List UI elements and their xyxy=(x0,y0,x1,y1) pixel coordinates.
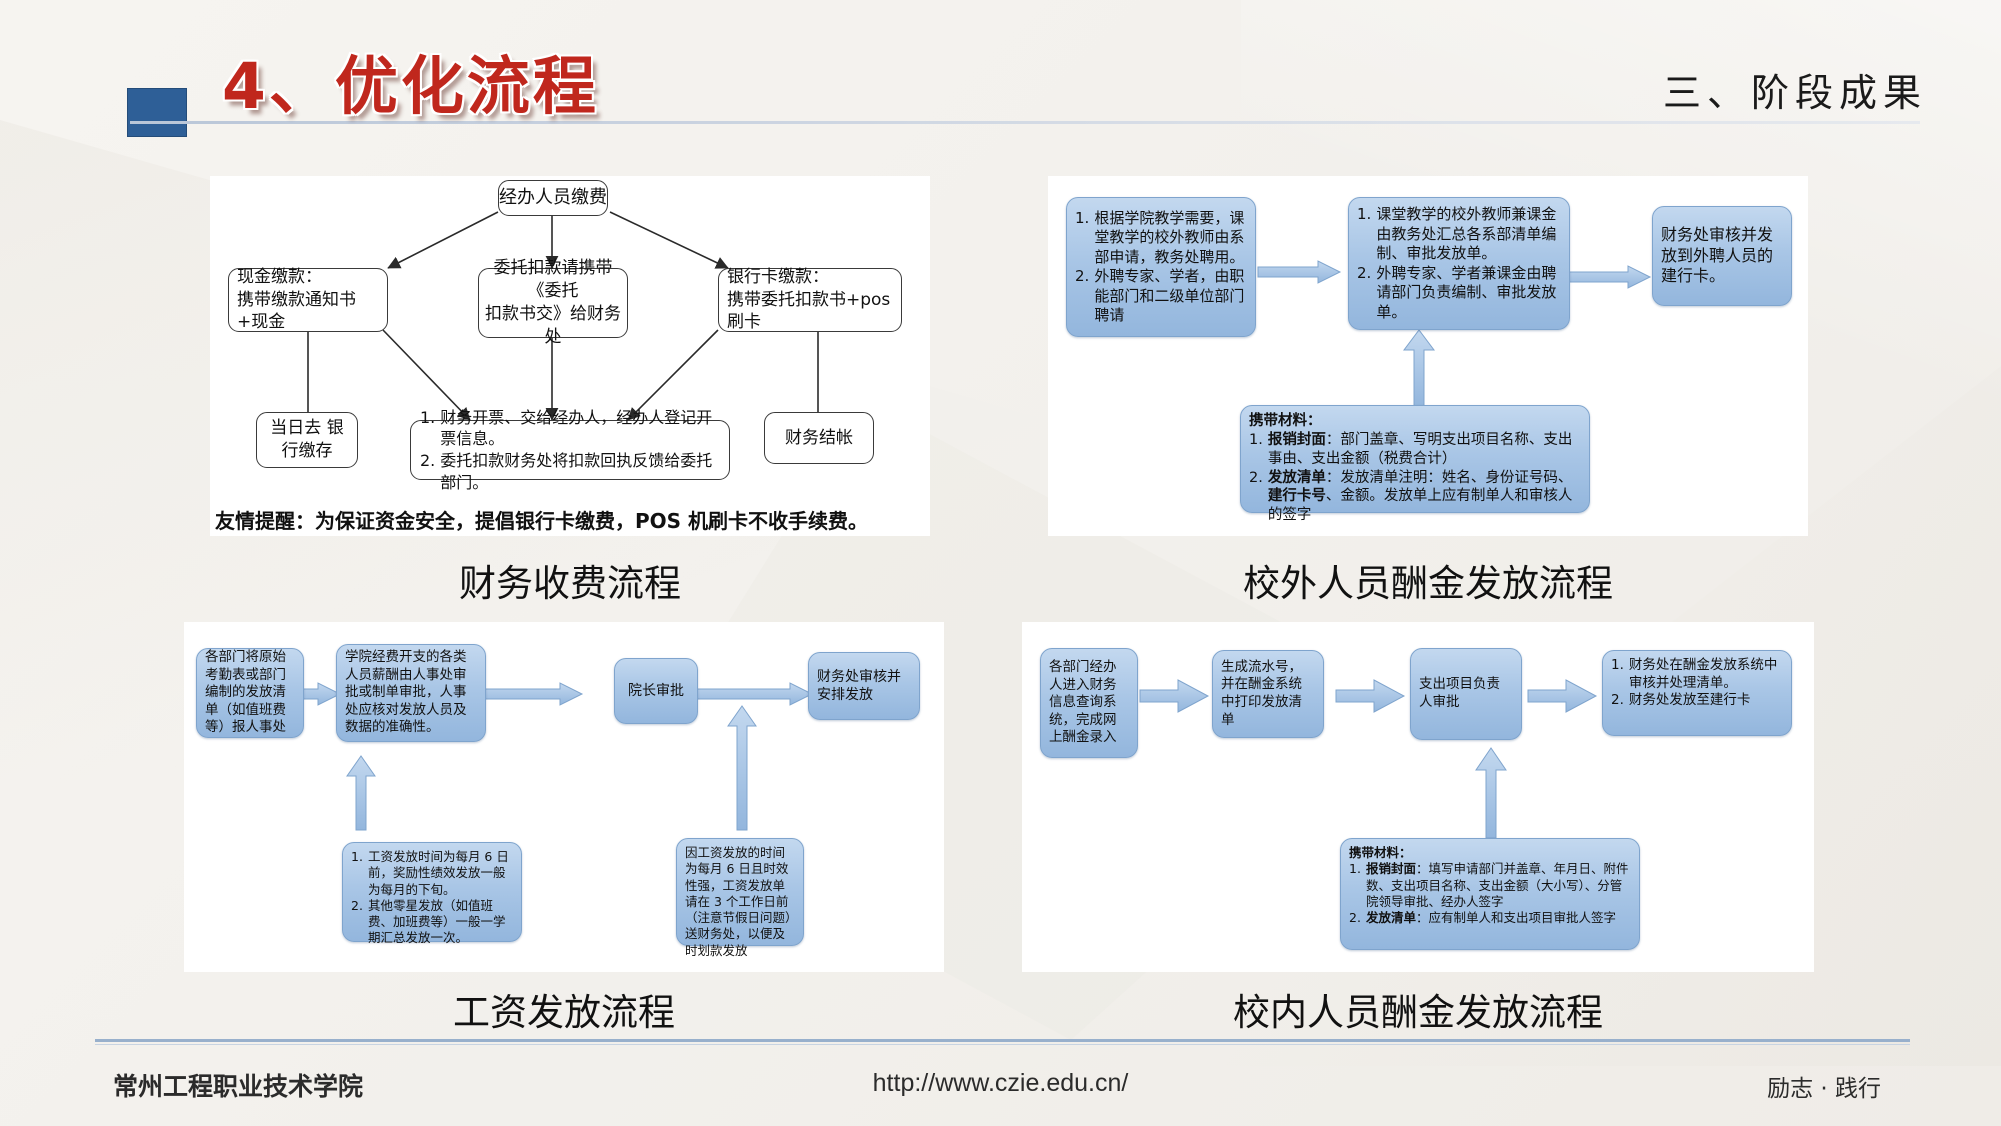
chart4-materials-label-2: 发放清单 xyxy=(1366,910,1416,925)
chart1-node-top: 经办人员缴费 xyxy=(498,180,608,216)
chart2-node-materials: 携带材料： 1.报销封面：部门盖章、写明支出项目名称、支出事由、支出金额（税费合… xyxy=(1240,405,1590,513)
chart1-node-bankcard: 银行卡缴款： 携带委托扣款书+pos 刷卡 xyxy=(718,268,902,332)
chart1-node-settle: 财务结帐 xyxy=(764,412,874,464)
chart1-result-item-2: 委托扣款财务处将扣款回执反馈给委托部门。 xyxy=(440,450,720,493)
slide-footer: 常州工程职业技术学院 http://www.czie.edu.cn/ 励志 · … xyxy=(0,1031,2001,1126)
caption-chart2: 校外人员酬金发放流程 xyxy=(1048,553,1808,607)
chart4-node-step2: 生成流水号，并在酬金系统中打印发放清单 xyxy=(1212,650,1324,738)
slide-header: 4、优化流程 三、阶段成果 xyxy=(0,0,2001,140)
chart4-materials-item-2: ：应有制单人和支出项目审批人签字 xyxy=(1416,910,1616,925)
footer-school-name: 常州工程职业技术学院 xyxy=(113,1067,363,1103)
chart4-node-step4: 1.财务处在酬金发放系统中审核并处理清单。 2.财务处发放至建行卡 xyxy=(1602,650,1792,736)
chart2-node-step3: 财务处审核并发放到外聘人员的建行卡。 xyxy=(1652,206,1792,306)
caption-chart4: 校内人员酬金发放流程 xyxy=(1022,982,1814,1036)
caption-chart1: 财务收费流程 xyxy=(210,553,930,607)
chart3-note1-item-1: 工资发放时间为每月 6 日前，奖励性绩效发放一般为每月的下旬。 xyxy=(368,849,513,898)
chart1-reminder: 友情提醒：为保证资金安全，提倡银行卡缴费，POS 机刷卡不收手续费。 xyxy=(215,505,868,534)
chart2-step2-item-1: 课堂教学的校外教师兼课金由教务处汇总各系部清单编制、审批发放单。 xyxy=(1376,205,1561,264)
chart3-node-note1: 1.工资发放时间为每月 6 日前，奖励性绩效发放一般为每月的下旬。 2.其他零星… xyxy=(342,842,522,942)
chart4-node-materials: 携带材料： 1.报销封面：填写申请部门并盖章、年月日、附件数、支出项目名称、支出… xyxy=(1340,838,1640,950)
chart1-node-deposit: 当日去 银 行缴存 xyxy=(256,412,358,468)
chart3-note1-item-2: 其他零星发放（如值班费、加班费等）一般一学期汇总发放一次。 xyxy=(368,898,513,947)
chart3-node-step1: 各部门将原始考勤表或部门编制的发放清单（如值班费等）报人事处 xyxy=(196,648,304,738)
header-accent-square xyxy=(127,88,187,137)
footer-divider-thin xyxy=(95,1044,1910,1045)
chart4-step1-text: 各部门经办人进入财务信息查询系统，完成网上酬金录入 xyxy=(1049,659,1129,747)
chart2-node-step2: 1.课堂教学的校外教师兼课金由教务处汇总各系部清单编制、审批发放单。 2.外聘专… xyxy=(1348,197,1570,330)
chart3-node-note2: 因工资发放的时间为每月 6 日且时效性强，工资发放单请在 3 个工作日前（注意节… xyxy=(676,838,804,946)
chart3-node-step3: 院长审批 xyxy=(614,658,698,724)
chart2-step1-item-2: 外聘专家、学者，由职能部门和二级单位部门聘请 xyxy=(1094,267,1247,326)
chart1-node-cash: 现金缴款： 携带缴款通知书+现金 xyxy=(228,268,388,332)
section-title: 三、阶段成果 xyxy=(1663,62,1927,117)
caption-chart3: 工资发放流程 xyxy=(184,982,944,1036)
page-title: 4、优化流程 xyxy=(222,36,599,127)
chart4-node-step3: 支出项目负责人审批 xyxy=(1410,648,1522,740)
chart2-materials-label-1: 报销封面 xyxy=(1268,432,1326,448)
chart2-materials-title: 携带材料： xyxy=(1249,412,1581,431)
chart2-node-step1: 1.根据学院教学需要，课堂教学的校外教师由系部申请，教务处聘用。 2.外聘专家、… xyxy=(1066,197,1256,337)
chart4-materials-title: 携带材料： xyxy=(1349,845,1631,861)
chart4-node-step1: 各部门经办人进入财务信息查询系统，完成网上酬金录入 xyxy=(1040,648,1138,758)
chart4-materials-label-1: 报销封面 xyxy=(1366,861,1416,876)
chart1-result-item-1: 财务开票、交给经办人，经办人登记开票信息。 xyxy=(440,407,720,450)
chart3-node-step4: 财务处审核并安排发放 xyxy=(808,652,920,720)
footer-divider xyxy=(95,1039,1910,1042)
chart4-step4-item-2: 财务处发放至建行卡 xyxy=(1629,692,1751,710)
chart1-node-result: 1.财务开票、交给经办人，经办人登记开票信息。 2.委托扣款财务处将扣款回执反馈… xyxy=(410,420,730,480)
chart1-node-entrust: 委托扣款请携带《委托 扣款书交》给财务处 xyxy=(478,268,628,338)
chart2-step2-item-2: 外聘专家、学者兼课金由聘请部门负责编制、审批发放单。 xyxy=(1376,264,1561,323)
chart2-step1-item-1: 根据学院教学需要，课堂教学的校外教师由系部申请，教务处聘用。 xyxy=(1094,209,1247,268)
chart4-step4-item-1: 财务处在酬金发放系统中审核并处理清单。 xyxy=(1629,657,1783,692)
chart3-node-step2: 学院经费开支的各类人员薪酬由人事处审批或制单审批，人事处应核对发放人员及数据的准… xyxy=(336,644,486,742)
footer-url[interactable]: http://www.czie.edu.cn/ xyxy=(873,1069,1129,1098)
footer-motto: 励志 · 践行 xyxy=(1767,1069,1881,1103)
chart2-materials-label-2: 发放清单 xyxy=(1268,470,1326,486)
